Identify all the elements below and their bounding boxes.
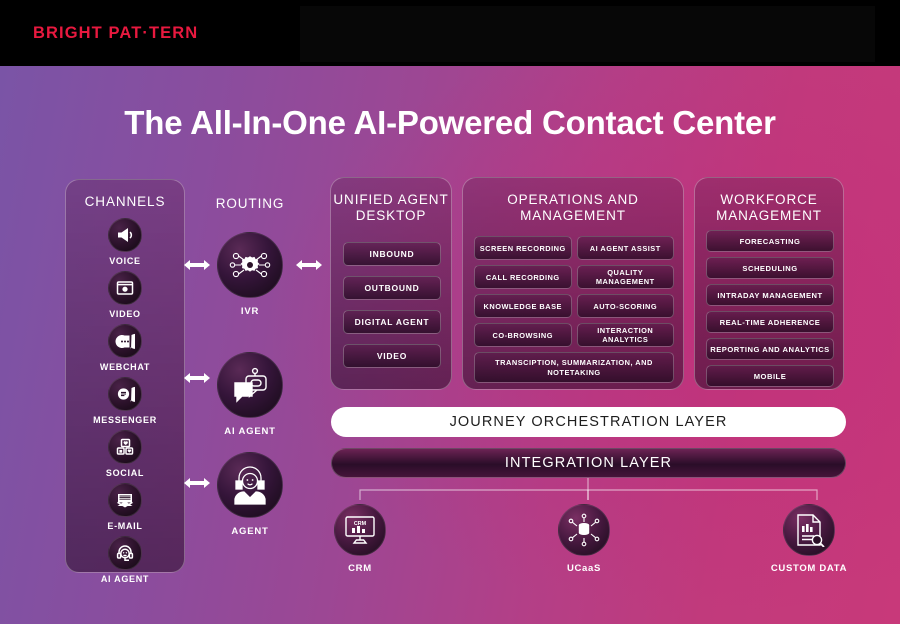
double-arrow-icon-left-ai-agent (184, 371, 210, 385)
operations-item-quality-management[interactable]: QUALITY MANAGEMENT (577, 265, 675, 289)
routing-label-agent: AGENT (231, 526, 268, 537)
routing-item-ai-agent[interactable]: AI AGENT (195, 352, 305, 437)
uad-item-video[interactable]: VIDEO (343, 344, 441, 368)
operations-item-ai-agent-assist[interactable]: AI AGENT ASSIST (577, 236, 675, 260)
channel-item-e-mail[interactable]: E-MAIL (66, 483, 184, 535)
uad-title: UNIFIED AGENT DESKTOP (331, 192, 451, 224)
double-arrow-icon-right-ivr (296, 258, 322, 272)
channel-item-webchat[interactable]: WEBCHAT (66, 324, 184, 376)
operations-item-transcription-summarization-notetaking[interactable]: TRANSCIPTION, SUMMARIZATION, AND NOTETAK… (474, 352, 674, 383)
routing-title: ROUTING (195, 196, 305, 211)
header-bar: BRIGHT PAT·TERN (0, 0, 900, 66)
infographic-slide: BRIGHT PAT·TERN The All-In-One AI-Powere… (0, 0, 900, 624)
uad-item-digital-agent[interactable]: DIGITAL AGENT (343, 310, 441, 334)
channel-item-social[interactable]: SOCIAL (66, 430, 184, 482)
journey-orchestration-layer-bar[interactable]: JOURNEY ORCHESTRATION LAYER (331, 407, 846, 437)
channel-label: MESSENGER (93, 415, 157, 425)
integration-layer-bar[interactable]: INTEGRATION LAYER (331, 448, 846, 478)
social-hearts-icon (108, 430, 142, 464)
workforce-management-panel: WORKFORCE MANAGEMENT FORECASTINGSCHEDULI… (694, 177, 844, 390)
routing-item-agent[interactable]: AGENT (195, 452, 305, 537)
uad-item-inbound[interactable]: INBOUND (343, 242, 441, 266)
integration-label-crm: CRM (348, 563, 372, 574)
channel-item-ai-agent[interactable]: AI AGENT (66, 536, 184, 588)
channels-title: CHANNELS (66, 194, 184, 210)
operations-item-call-recording[interactable]: CALL RECORDING (474, 265, 572, 289)
operations-grid: SCREEN RECORDINGAI AGENT ASSISTCALL RECO… (474, 236, 674, 383)
header-dark-panel (300, 6, 875, 62)
person-headset-icon (217, 452, 283, 518)
channel-label: AI AGENT (101, 574, 149, 584)
double-arrow-icon-left-ivr (184, 258, 210, 272)
routing-item-ivr[interactable]: IVR (195, 232, 305, 317)
headset-bot-icon (108, 536, 142, 570)
channel-item-video[interactable]: VIDEO (66, 271, 184, 323)
workforce-list: FORECASTINGSCHEDULINGINTRADAY MANAGEMENT… (706, 230, 834, 392)
channel-label: WEBCHAT (100, 362, 150, 372)
video-window-icon (108, 271, 142, 305)
workforce-item-reporting-and-analytics[interactable]: REPORTING AND ANALYTICS (706, 338, 834, 360)
channels-list: VOICEVIDEOWEBCHATMESSENGERSOCIALE-MAILAI… (66, 218, 184, 589)
workforce-title: WORKFORCE MANAGEMENT (695, 192, 843, 224)
workforce-item-forecasting[interactable]: FORECASTING (706, 230, 834, 252)
integration-node-custom-data[interactable]: CUSTOM DATA (749, 504, 869, 574)
workforce-item-scheduling[interactable]: SCHEDULING (706, 257, 834, 279)
channel-item-messenger[interactable]: MESSENGER (66, 377, 184, 429)
channel-item-voice[interactable]: VOICE (66, 218, 184, 270)
chat-robot-icon (217, 352, 283, 418)
workforce-item-mobile[interactable]: MOBILE (706, 365, 834, 387)
svg-text:CRM: CRM (354, 521, 367, 527)
envelope-icon (108, 483, 142, 517)
routing-label-ivr: IVR (241, 306, 259, 317)
operations-item-interaction-analytics[interactable]: INTERACTION ANALYTICS (577, 323, 675, 347)
operations-item-screen-recording[interactable]: SCREEN RECORDING (474, 236, 572, 260)
unified-agent-desktop-panel: UNIFIED AGENT DESKTOP INBOUND OUTBOUND D… (330, 177, 452, 390)
workforce-item-intraday-management[interactable]: INTRADAY MANAGEMENT (706, 284, 834, 306)
uad-item-outbound[interactable]: OUTBOUND (343, 276, 441, 300)
chat-bubble-dots-icon (108, 324, 142, 358)
channel-label: VIDEO (109, 309, 141, 319)
operations-title: OPERATIONS AND MANAGEMENT (463, 192, 683, 224)
monitor-chart-icon: CRM (334, 504, 386, 556)
server-network-icon (558, 504, 610, 556)
integration-node-ucaas[interactable]: UCaaS (524, 504, 644, 574)
gear-network-icon (217, 232, 283, 298)
messenger-bubble-icon (108, 377, 142, 411)
operations-management-panel: OPERATIONS AND MANAGEMENT SCREEN RECORDI… (462, 177, 684, 390)
routing-label-ai-agent: AI AGENT (224, 426, 275, 437)
integration-node-crm[interactable]: CRM CRM (300, 504, 420, 574)
channel-label: VOICE (109, 256, 141, 266)
document-chart-search-icon (783, 504, 835, 556)
megaphone-icon (108, 218, 142, 252)
workforce-item-real-time-adherence[interactable]: REAL-TIME ADHERENCE (706, 311, 834, 333)
operations-item-auto-scoring[interactable]: AUTO-SCORING (577, 294, 675, 318)
brand-logo: BRIGHT PAT·TERN (33, 24, 198, 43)
integration-label-custom-data: CUSTOM DATA (771, 563, 847, 574)
operations-item-co-browsing[interactable]: CO-BROWSING (474, 323, 572, 347)
channels-panel: CHANNELS VOICEVIDEOWEBCHATMESSENGERSOCIA… (65, 179, 185, 573)
channel-label: SOCIAL (106, 468, 144, 478)
operations-item-knowledge-base[interactable]: KNOWLEDGE BASE (474, 294, 572, 318)
double-arrow-icon-left-agent (184, 476, 210, 490)
page-title: The All-In-One AI-Powered Contact Center (0, 104, 900, 142)
channel-label: E-MAIL (107, 521, 142, 531)
integration-label-ucaas: UCaaS (567, 563, 601, 574)
